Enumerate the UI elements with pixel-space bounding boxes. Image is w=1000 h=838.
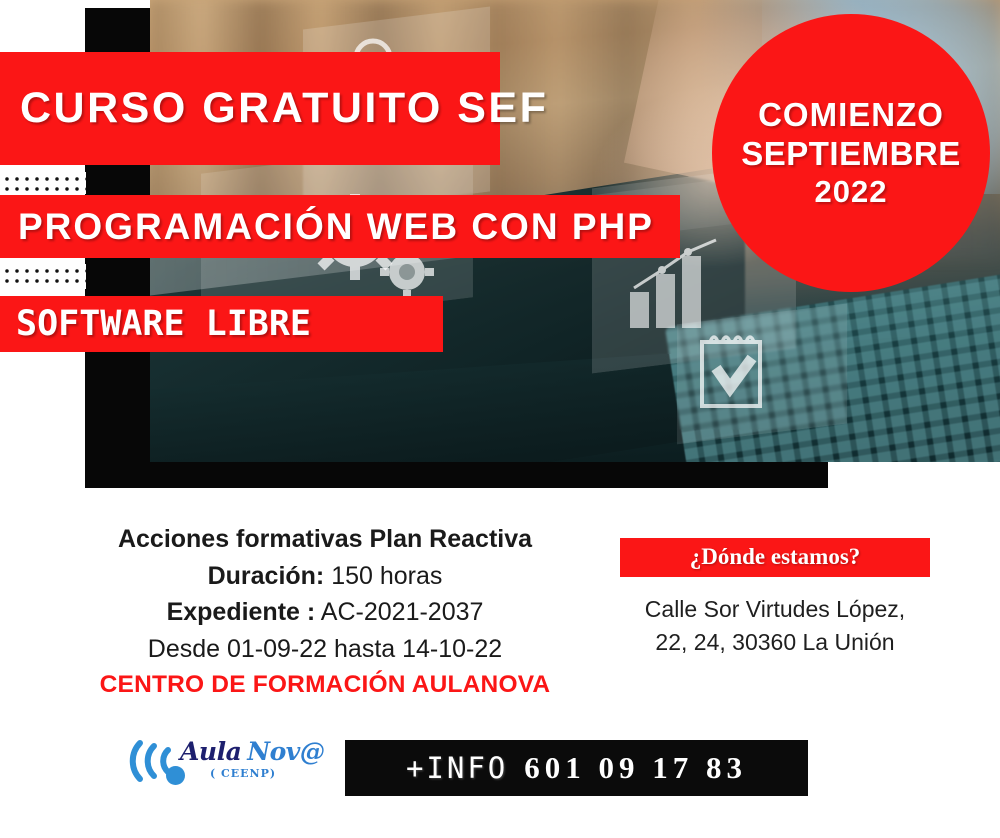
start-badge-line-1: COMIENZO <box>758 96 944 135</box>
start-date-badge: COMIENZO SEPTIEMBRE 2022 <box>712 14 990 292</box>
banner-line-2: PROGRAMACIÓN WEB CON PHP <box>18 206 654 248</box>
duration-label: Duración: <box>208 562 325 590</box>
banner-course-title: CURSO GRATUITO SEF <box>0 52 500 165</box>
address-line-2: 22, 24, 30360 La Unión <box>655 629 894 655</box>
training-center-name: CENTRO DE FORMACIÓN AULANOVA <box>40 670 610 701</box>
hero-section: CURSO GRATUITO SEF PROGRAMACIÓN WEB CON … <box>0 0 1000 492</box>
logo-wordmark: AulaNov@ <box>180 737 324 766</box>
file-value: AC-2021-2037 <box>321 598 484 626</box>
file-label: Expediente : <box>167 598 316 626</box>
banner-course-subject: PROGRAMACIÓN WEB CON PHP <box>0 195 680 258</box>
aulanova-logo: AulaNov@ ( CEENP) <box>128 733 318 799</box>
poster: CURSO GRATUITO SEF PROGRAMACIÓN WEB CON … <box>0 0 1000 838</box>
info-label: +INFO <box>406 751 508 785</box>
halftone-dots-bottom <box>0 264 86 289</box>
logo-word-aula: Aula <box>180 737 241 766</box>
course-dates: Desde 01-09-22 hasta 14-10-22 <box>40 634 610 666</box>
banner-line-1: CURSO GRATUITO SEF <box>20 84 548 133</box>
course-title: Acciones formativas Plan Reactiva <box>40 524 610 556</box>
location-block: ¿Dónde estamos? Calle Sor Virtudes López… <box>620 538 930 664</box>
start-badge-line-2: SEPTIEMBRE <box>741 135 961 174</box>
course-info-block: Acciones formativas Plan Reactiva Duraci… <box>40 524 610 706</box>
location-heading: ¿Dónde estamos? <box>620 538 930 577</box>
course-duration: Duración: 150 horas <box>40 561 610 593</box>
halftone-dots-top <box>0 172 86 194</box>
banner-course-topic: SOFTWARE LIBRE <box>0 296 443 352</box>
phone-number: 601 09 17 83 <box>524 750 747 786</box>
location-address: Calle Sor Virtudes López, 22, 24, 30360 … <box>620 593 930 660</box>
banner-line-3: SOFTWARE LIBRE <box>16 304 311 344</box>
address-line-1: Calle Sor Virtudes López, <box>645 596 905 622</box>
course-file: Expediente : AC-2021-2037 <box>40 597 610 629</box>
logo-dot-icon <box>166 766 185 785</box>
logo-word-nova: Nov@ <box>247 737 324 766</box>
checklist-icon <box>694 328 770 414</box>
duration-value: 150 horas <box>331 562 442 590</box>
logo-subtitle: ( CEENP) <box>210 767 276 780</box>
start-badge-line-3: 2022 <box>815 174 888 211</box>
contact-bar: +INFO 601 09 17 83 <box>345 740 808 796</box>
